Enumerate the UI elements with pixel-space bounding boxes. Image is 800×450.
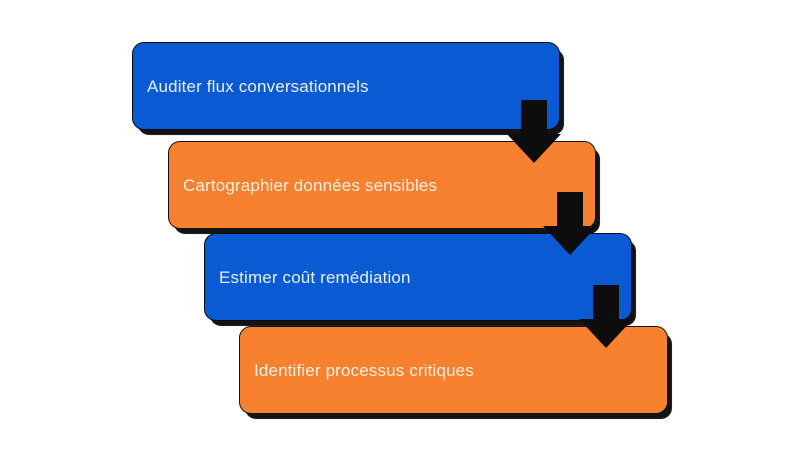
process-step-2[interactable]: Cartographier données sensibles	[168, 141, 596, 229]
process-step-3[interactable]: Estimer coût remédiation	[204, 233, 632, 321]
process-step-1[interactable]: Auditer flux conversationnels	[132, 42, 560, 130]
process-step-1-label: Auditer flux conversationnels	[133, 76, 369, 97]
process-step-4[interactable]: Identifier processus critiques	[239, 326, 668, 414]
diagram-canvas: Auditer flux conversationnels Cartograph…	[0, 0, 800, 450]
process-step-4-label: Identifier processus critiques	[240, 360, 474, 381]
process-step-2-label: Cartographier données sensibles	[169, 175, 437, 196]
process-step-3-label: Estimer coût remédiation	[205, 267, 411, 288]
